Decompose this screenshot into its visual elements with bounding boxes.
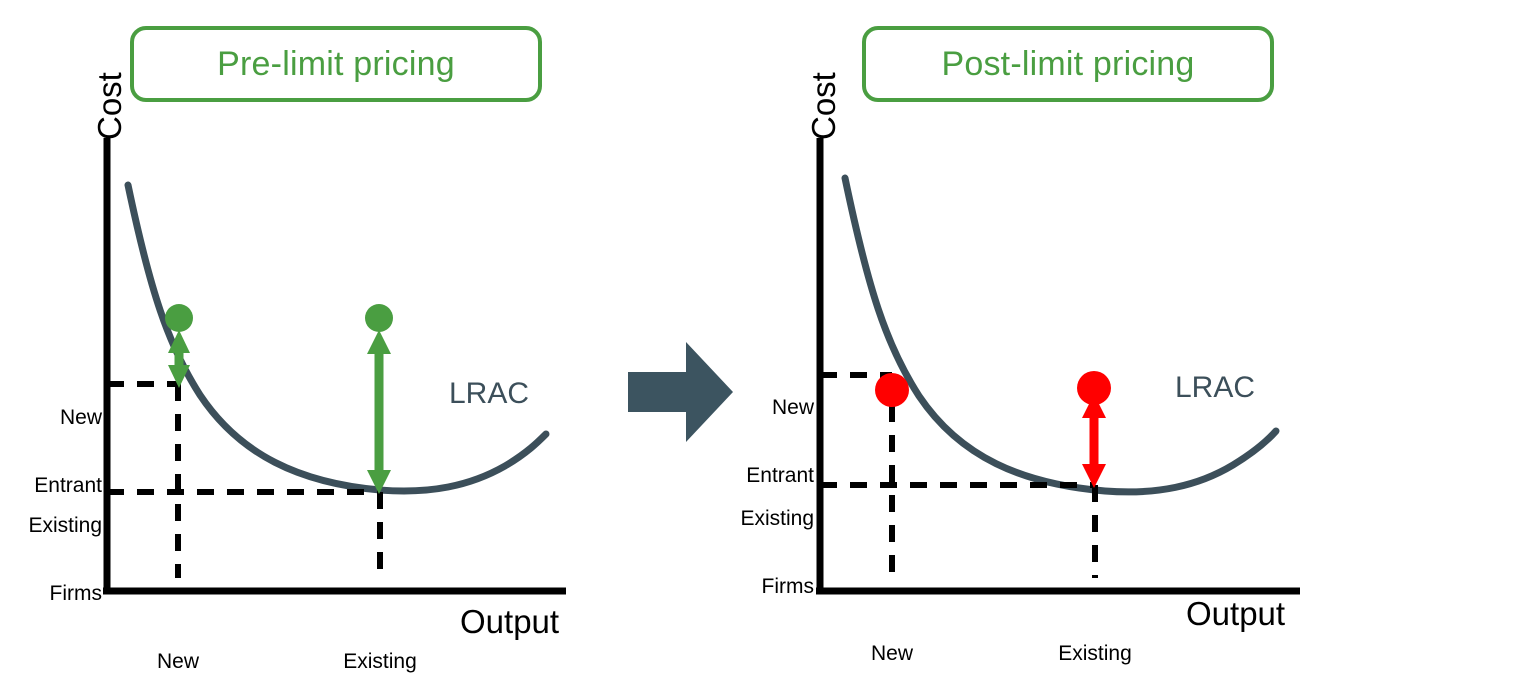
chart-panel-post-limit-pricing: Cost Output New Entrant Existing Firms N… — [720, 0, 1340, 679]
new-entrant-price-dot-post — [875, 373, 909, 407]
x-tick-new-entrant-line1-post: New — [832, 643, 952, 666]
lrac-label-post: LRAC — [1175, 372, 1255, 404]
y-axis-title-post: Cost — [806, 72, 842, 140]
new-entrant-price-dot-pre — [165, 304, 193, 332]
existing-firms-price-dot-pre — [365, 304, 393, 332]
y-tick-existing-firms-pre: Existing Firms — [10, 470, 102, 651]
x-tick-new-entrant-pre: New Entrant — [118, 606, 238, 679]
x-axis-title-pre: Output — [460, 604, 559, 640]
x-axis-title-post: Output — [1186, 596, 1285, 632]
y-tick-new-entrant-line1-pre: New — [10, 407, 102, 430]
x-tick-existing-firms-pre: Existing Firms — [320, 606, 440, 679]
existing-firms-price-dot-post — [1077, 371, 1111, 405]
y-tick-new-entrant-line1-post: New — [722, 397, 814, 420]
y-tick-existing-firms-line1-pre: Existing — [10, 515, 102, 538]
y-tick-existing-firms-line1-post: Existing — [722, 508, 814, 531]
y-tick-existing-firms-line2-pre: Firms — [10, 583, 102, 606]
lrac-curve-post — [845, 178, 1276, 492]
transition-arrow-shape — [628, 342, 733, 442]
x-tick-existing-firms-line1-post: Existing — [1035, 643, 1155, 666]
lrac-curve-pre — [128, 185, 546, 491]
x-tick-existing-firms-post: Existing Firms — [1035, 598, 1155, 679]
y-tick-existing-firms-post: Existing Firms — [722, 463, 814, 644]
y-tick-existing-firms-line2-post: Firms — [722, 576, 814, 599]
lrac-label-pre: LRAC — [449, 378, 529, 410]
chart-panel-pre-limit-pricing: Cost Output New Entrant Existing Firms N… — [0, 0, 620, 679]
x-tick-existing-firms-line1-pre: Existing — [320, 651, 440, 674]
existing-firms-margin-arrow-pre — [367, 330, 391, 494]
x-tick-new-entrant-post: New Entrant — [832, 598, 952, 679]
existing-firms-margin-arrow-post — [1082, 394, 1106, 488]
x-tick-new-entrant-line1-pre: New — [118, 651, 238, 674]
y-axis-title-pre: Cost — [92, 72, 128, 140]
diagram-canvas: Pre-limit pricing Post-limit pricing — [0, 0, 1539, 679]
